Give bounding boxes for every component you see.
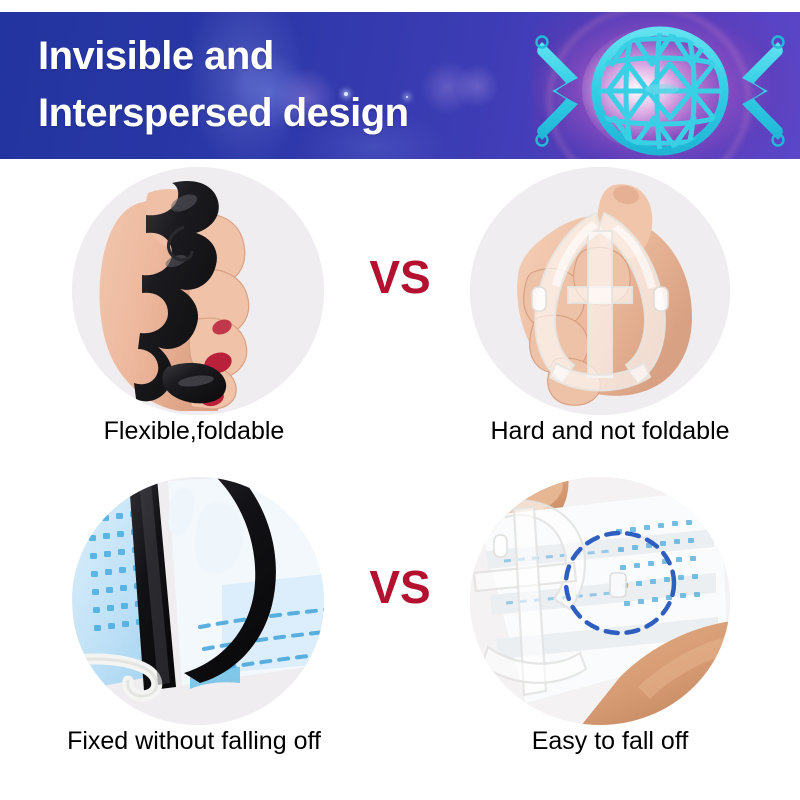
photo-hand-holding-clear-bracket	[470, 167, 730, 415]
comparison-grid: Flexible,foldable VS	[0, 159, 800, 800]
photo-hand-squeezing-black-bracket	[72, 167, 324, 415]
comparison-row-bottom: Fixed without falling off VS	[0, 469, 800, 789]
page-title-line-2: Interspersed design	[38, 85, 508, 142]
photo-clear-bracket-falling-off-mask	[470, 477, 730, 725]
caption-fixed-without-falling-off: Fixed without falling off	[24, 727, 364, 756]
comparison-row-top: Flexible,foldable VS	[0, 159, 800, 479]
photo-black-bracket-on-blue-mask	[72, 477, 324, 725]
caption-hard-not-foldable: Hard and not foldable	[440, 417, 780, 446]
comparison-cell-hard: Hard and not foldable	[432, 159, 772, 479]
caption-easy-to-fall-off: Easy to fall off	[440, 727, 780, 756]
header-banner: Invisible and Interspersed design	[0, 12, 800, 159]
caption-flexible-foldable: Flexible,foldable	[24, 417, 364, 446]
comparison-cell-fixed: Fixed without falling off	[30, 469, 370, 789]
page-title: Invisible and Interspersed design	[38, 28, 508, 142]
comparison-cell-flexible: Flexible,foldable	[30, 159, 370, 479]
mask-bracket-product-icon	[520, 20, 800, 159]
comparison-cell-easy-fall: Easy to fall off	[432, 469, 772, 789]
page-title-line-1: Invisible and	[38, 28, 508, 85]
